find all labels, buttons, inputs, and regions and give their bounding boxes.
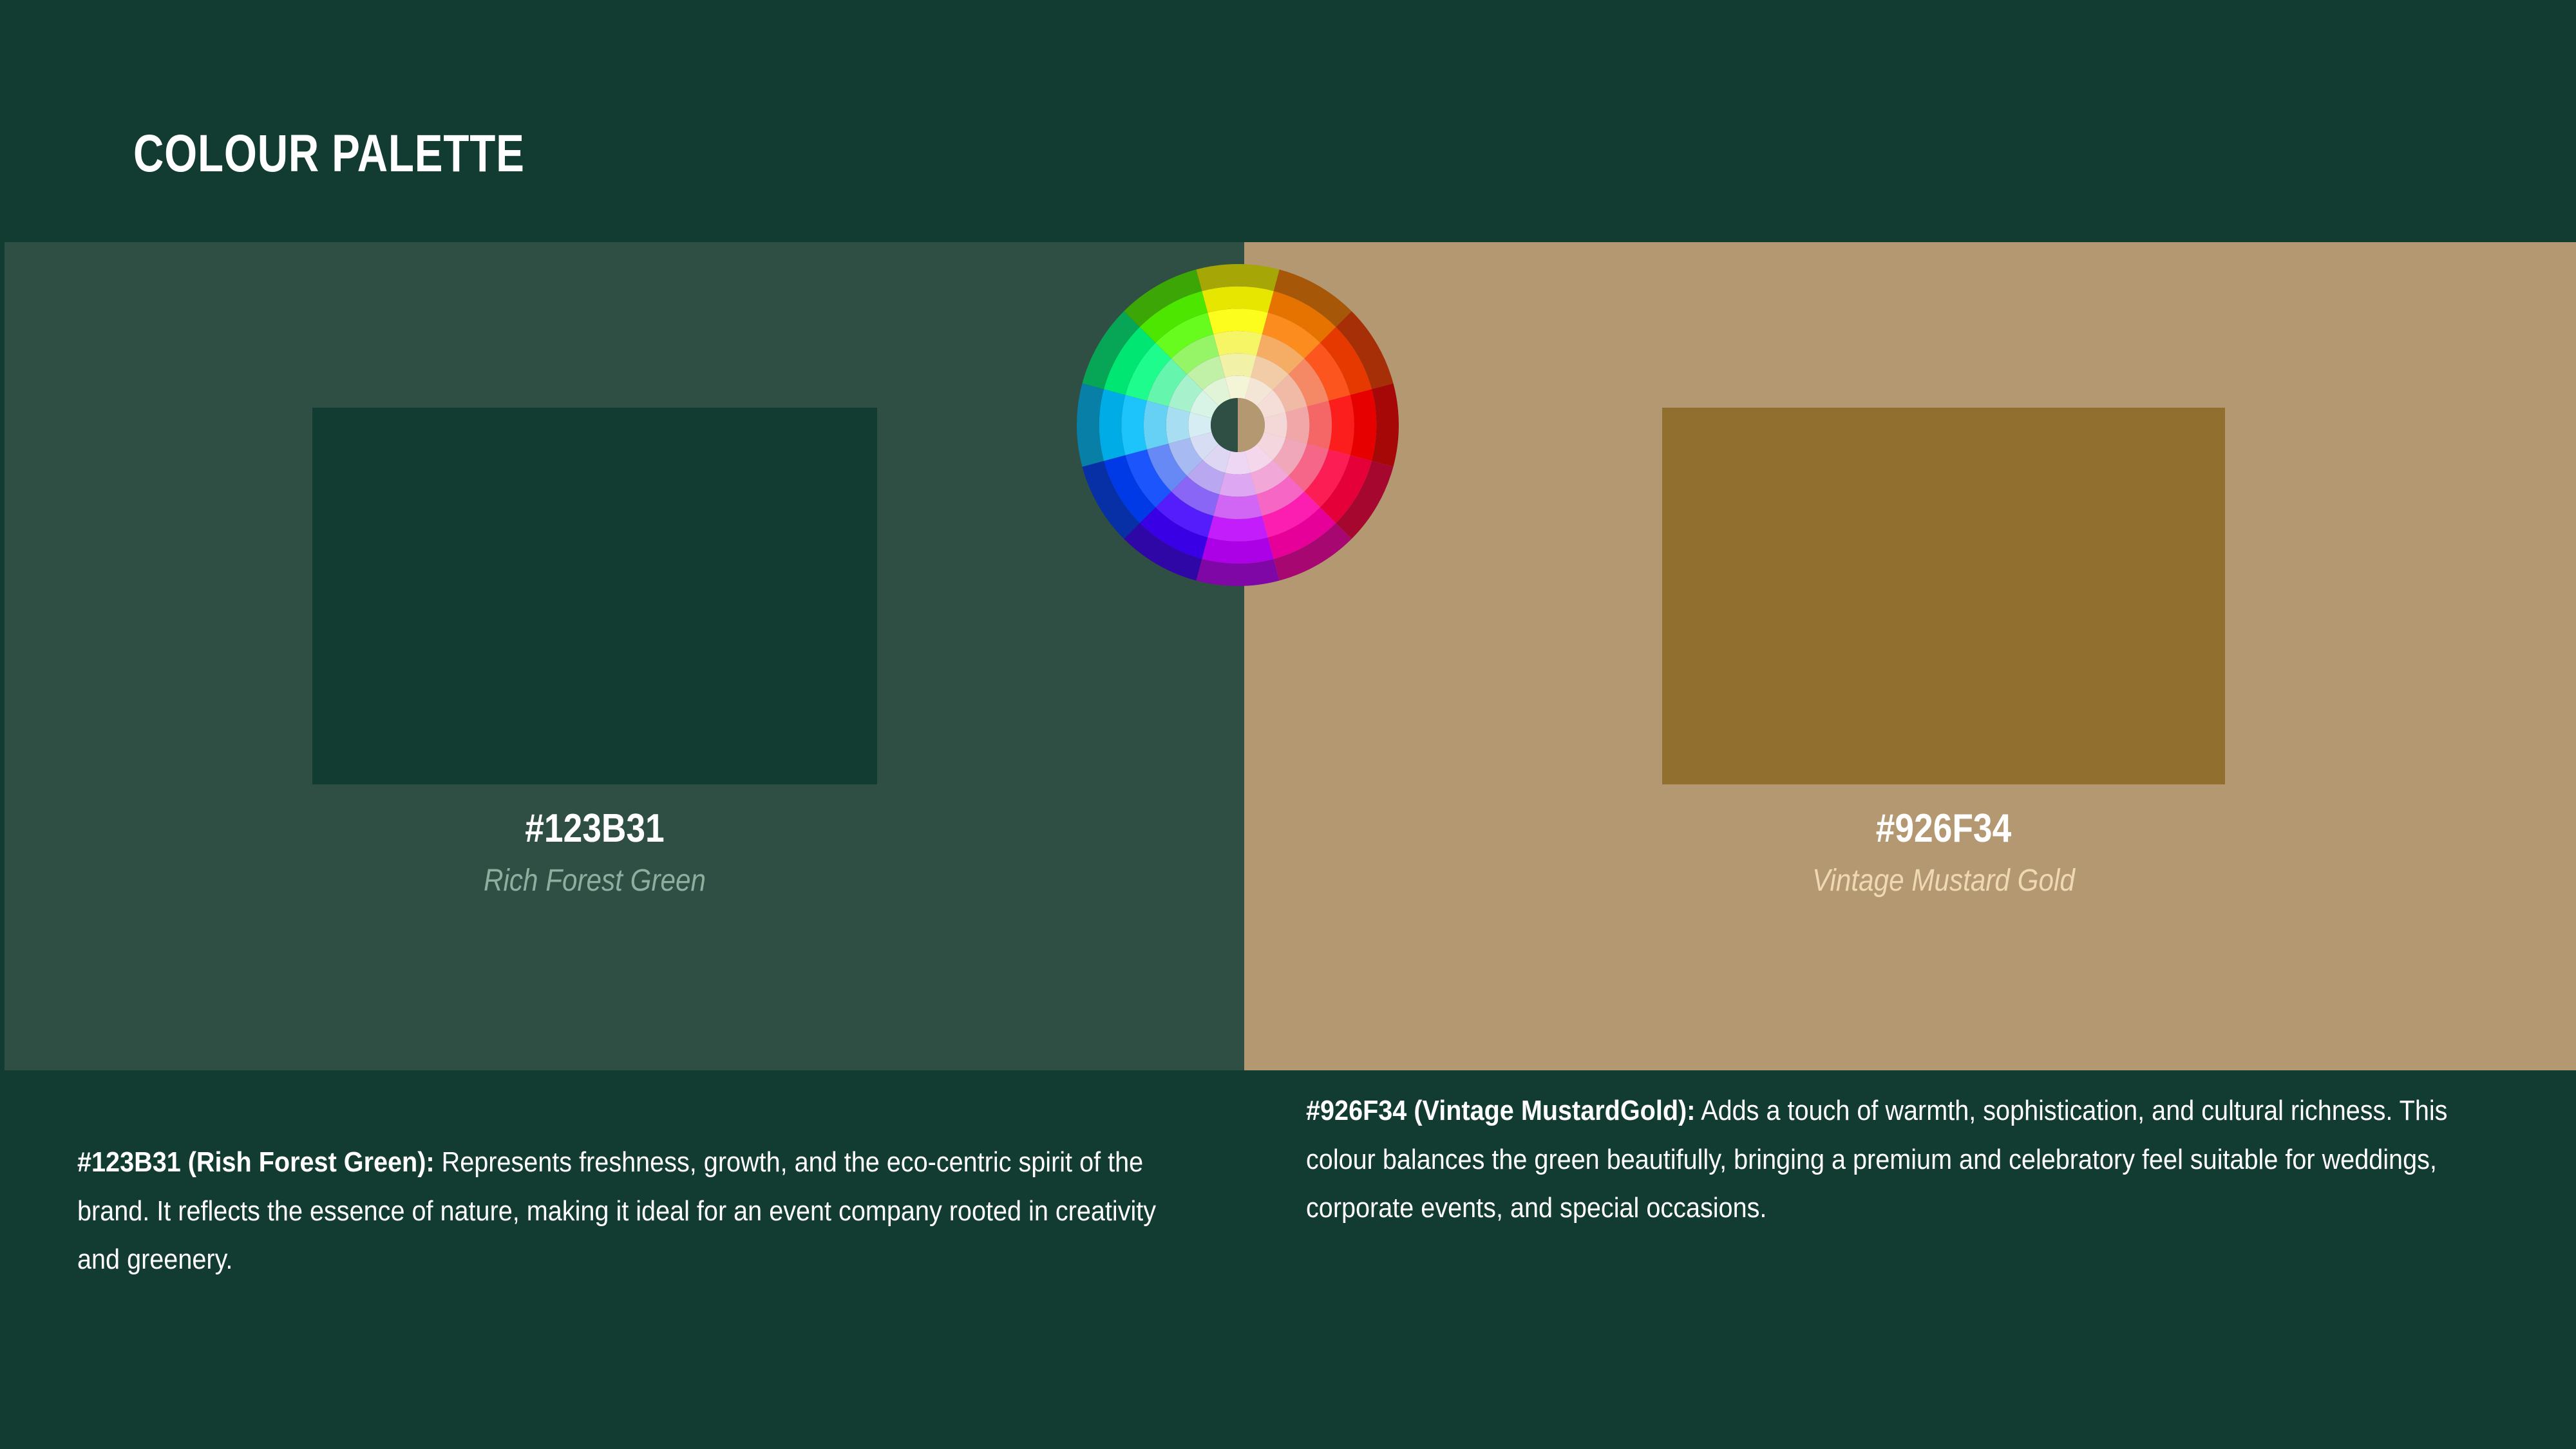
colour-swatch-right[interactable] <box>1662 408 2225 784</box>
description-left-lead: #123B31 (Rish Forest Green): <box>77 1146 435 1178</box>
colour-hex-right: #926F34 <box>1701 809 2186 849</box>
description-right: #926F34 (Vintage MustardGold): Adds a to… <box>1306 1086 2523 1233</box>
colour-caption-right: #926F34 Vintage Mustard Gold <box>1662 809 2225 896</box>
description-right-lead: #926F34 (Vintage MustardGold): <box>1306 1095 1695 1126</box>
header-bar: COLOUR PALETTE <box>0 0 2576 242</box>
colour-hex-left: #123B31 <box>352 809 837 849</box>
description-left: #123B31 (Rish Forest Green): Represents … <box>77 1138 1185 1284</box>
palette-band: #123B31 Rich Forest Green #926F34 Vintag… <box>5 242 2576 1070</box>
colour-name-right: Vintage Mustard Gold <box>1696 866 2191 896</box>
palette-panel-left: #123B31 Rich Forest Green <box>5 242 1244 1070</box>
colour-swatch-left[interactable] <box>312 408 877 784</box>
colour-caption-left: #123B31 Rich Forest Green <box>312 809 877 896</box>
page-title: COLOUR PALETTE <box>133 128 525 180</box>
colour-name-left: Rich Forest Green <box>346 866 844 896</box>
descriptions-section: #123B31 (Rish Forest Green): Represents … <box>0 1070 2576 1449</box>
palette-panel-right: #926F34 Vintage Mustard Gold <box>1244 242 2576 1070</box>
